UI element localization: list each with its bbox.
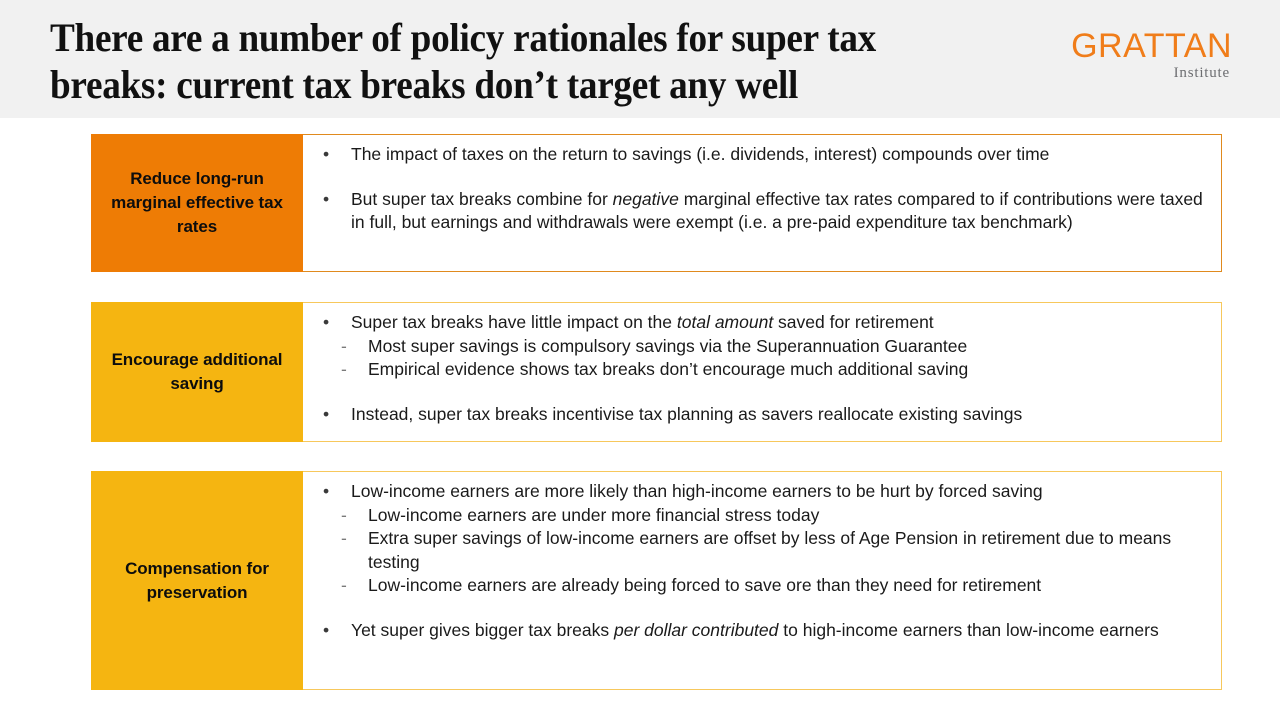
dash-marker-icon: - — [341, 358, 347, 382]
bullet-list: •The impact of taxes on the return to sa… — [313, 143, 1209, 235]
rationale-label-box: Reduce long-run marginal effective tax r… — [91, 134, 303, 272]
rationale-row: Compensation for preservation•Low-income… — [91, 471, 1222, 690]
bullet-marker-icon: • — [323, 619, 329, 643]
bullet-text: Low-income earners are already being for… — [368, 575, 1041, 595]
bullet-list: •Super tax breaks have little impact on … — [313, 311, 1209, 426]
sub-bullet-item: -Empirical evidence shows tax breaks don… — [313, 358, 1209, 382]
rationale-label-text: Encourage additional saving — [101, 348, 293, 396]
bullet-text: to high-income earners than low-income e… — [778, 620, 1158, 640]
slide-header: There are a number of policy rationales … — [0, 0, 1280, 118]
bullet-item: •But super tax breaks combine for negati… — [313, 188, 1209, 235]
rationale-label-text: Compensation for preservation — [101, 557, 293, 605]
bullet-marker-icon: • — [323, 143, 329, 167]
rationale-content-box: •Super tax breaks have little impact on … — [303, 302, 1222, 442]
rationale-row: Reduce long-run marginal effective tax r… — [91, 134, 1222, 272]
rationale-content-box: •Low-income earners are more likely than… — [303, 471, 1222, 690]
sub-bullet-item: -Low-income earners are already being fo… — [313, 574, 1209, 598]
bullet-text: But super tax breaks combine for — [351, 189, 613, 209]
bullet-text: saved for retirement — [773, 312, 933, 332]
rationale-label-box: Encourage additional saving — [91, 302, 303, 442]
bullet-text: Empirical evidence shows tax breaks don’… — [368, 359, 968, 379]
bullet-text: Extra super savings of low-income earner… — [368, 528, 1171, 572]
bullet-item: •Low-income earners are more likely than… — [313, 480, 1209, 504]
logo-subtext: Institute — [1056, 65, 1232, 82]
rationale-row: Encourage additional saving•Super tax br… — [91, 302, 1222, 442]
rationale-label-text: Reduce long-run marginal effective tax r… — [101, 167, 293, 239]
bullet-text: Super tax breaks have little impact on t… — [351, 312, 677, 332]
rationale-content-box: •The impact of taxes on the return to sa… — [303, 134, 1222, 272]
logo-wordmark: GRATTAN — [1056, 28, 1232, 64]
bullet-marker-icon: • — [323, 403, 329, 427]
slide: There are a number of policy rationales … — [0, 0, 1280, 720]
dash-marker-icon: - — [341, 527, 347, 551]
sub-bullet-item: -Extra super savings of low-income earne… — [313, 527, 1209, 574]
bullet-marker-icon: • — [323, 188, 329, 212]
sub-bullet-item: -Low-income earners are under more finan… — [313, 504, 1209, 528]
bullet-text: Low-income earners are more likely than … — [351, 481, 1043, 501]
dash-marker-icon: - — [341, 335, 347, 359]
bullet-marker-icon: • — [323, 311, 329, 335]
bullet-emphasis: negative — [613, 189, 679, 209]
bullet-text: Yet super gives bigger tax breaks — [351, 620, 614, 640]
bullet-item: •Super tax breaks have little impact on … — [313, 311, 1209, 335]
bullet-emphasis: total amount — [677, 312, 773, 332]
bullet-marker-icon: • — [323, 480, 329, 504]
page-title: There are a number of policy rationales … — [50, 14, 989, 108]
rationale-label-box: Compensation for preservation — [91, 471, 303, 690]
bullet-emphasis: per dollar contributed — [614, 620, 778, 640]
bullet-list: •Low-income earners are more likely than… — [313, 480, 1209, 642]
sub-bullet-item: -Most super savings is compulsory saving… — [313, 335, 1209, 359]
bullet-item: •The impact of taxes on the return to sa… — [313, 143, 1209, 167]
bullet-text: The impact of taxes on the return to sav… — [351, 144, 1049, 164]
bullet-item: •Instead, super tax breaks incentivise t… — [313, 403, 1209, 427]
bullet-text: Instead, super tax breaks incentivise ta… — [351, 404, 1022, 424]
dash-marker-icon: - — [341, 574, 347, 598]
bullet-text: Most super savings is compulsory savings… — [368, 336, 967, 356]
dash-marker-icon: - — [341, 504, 347, 528]
bullet-item: •Yet super gives bigger tax breaks per d… — [313, 619, 1209, 643]
bullet-text: Low-income earners are under more financ… — [368, 505, 819, 525]
grattan-logo: GRATTAN Institute — [1056, 28, 1232, 82]
